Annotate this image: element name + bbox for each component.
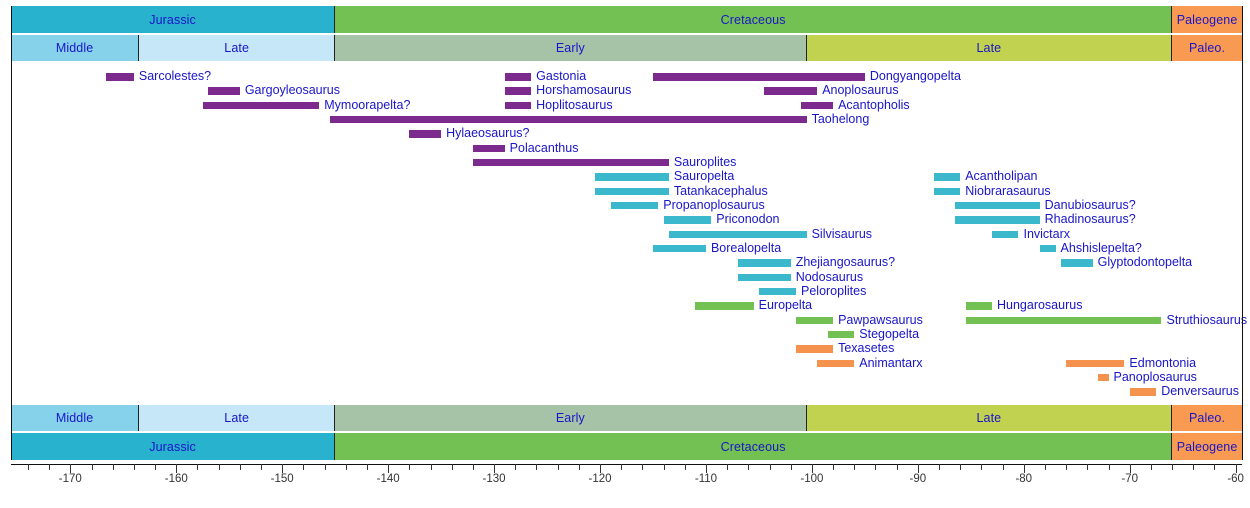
range-bar (955, 202, 1040, 210)
taxon-label: Struthiosaurus (1166, 313, 1247, 327)
x-axis-minor-tick (536, 464, 537, 470)
range-bar (595, 173, 669, 181)
x-axis-minor-tick (452, 464, 453, 470)
x-axis-minor-tick (1066, 464, 1067, 470)
x-axis-tick-label: -60 (1227, 473, 1244, 485)
x-axis-tick-label: -90 (910, 473, 927, 485)
taxon-range: Acantopholis (0, 99, 1250, 113)
x-axis-tick-label: -110 (695, 473, 717, 485)
range-bar (409, 130, 441, 138)
range-bar (992, 231, 1018, 239)
taxon-range: Dongyangopelta (0, 70, 1250, 84)
x-axis-minor-tick (1045, 464, 1046, 470)
x-axis-minor-tick (960, 464, 961, 470)
x-axis-minor-tick (261, 464, 262, 470)
taxon-range: Edmontonia (0, 357, 1250, 371)
x-axis-minor-tick (473, 464, 474, 470)
taxon-label: Anoplosaurus (822, 83, 898, 97)
x-axis-tick-label: -170 (59, 473, 82, 485)
x-axis-minor-tick (113, 464, 114, 470)
x-axis-minor-tick (325, 464, 326, 470)
range-bar (966, 317, 1162, 325)
taxon-label: Texasetes (838, 341, 894, 355)
x-axis-tick-label: -100 (800, 473, 823, 485)
taxon-label: Hungarosaurus (997, 298, 1082, 312)
x-axis-minor-tick (1003, 464, 1004, 470)
x-axis-tick-label: -80 (1015, 473, 1032, 485)
x-axis-minor-tick (791, 464, 792, 470)
taxon-label: Sauropelta (674, 169, 734, 183)
taxon-range: Struthiosaurus (0, 314, 1250, 328)
x-axis-major-tick (918, 464, 919, 473)
x-axis-minor-tick (240, 464, 241, 470)
taxon-label: Peloroplites (801, 284, 866, 298)
period-band-jurassic: Jurassic (11, 433, 335, 460)
range-bar (1040, 245, 1056, 253)
x-axis-major-tick (494, 464, 495, 473)
x-axis-tick-label: -140 (377, 473, 400, 485)
epoch-band-label: Middle (56, 411, 93, 425)
epoch-band-label: Late (224, 411, 249, 425)
taxon-label: Hylaeosaurus? (446, 126, 529, 140)
x-axis-minor-tick (685, 464, 686, 470)
stratigraphic-range-chart: JurassicCretaceousPaleogene MiddleLateEa… (0, 0, 1250, 508)
range-bar (473, 145, 505, 153)
x-axis-minor-tick (49, 464, 50, 470)
taxon-label: Denversaurus (1161, 384, 1239, 398)
taxa-range-plot: Sarcolestes?GastoniaDongyangopeltaGargoy… (0, 0, 1250, 508)
x-axis-minor-tick (1151, 464, 1152, 470)
x-axis-minor-tick (748, 464, 749, 470)
x-axis-major-tick (706, 464, 707, 473)
taxon-range: Tatankacephalus (0, 185, 1250, 199)
taxon-range: Texasetes (0, 342, 1250, 356)
x-axis-minor-tick (770, 464, 771, 470)
x-axis-tick-label: -150 (271, 473, 294, 485)
x-axis-major-tick (282, 464, 283, 473)
x-axis-minor-tick (854, 464, 855, 470)
x-axis-minor-tick (621, 464, 622, 470)
x-axis-major-tick (1130, 464, 1131, 473)
taxon-label: Edmontonia (1129, 356, 1196, 370)
range-bar (1061, 259, 1093, 267)
taxon-range: Rhadinosaurus? (0, 213, 1250, 227)
range-bar (759, 288, 796, 296)
x-axis-minor-tick (92, 464, 93, 470)
x-axis-tick-label: -120 (588, 473, 611, 485)
range-bar (330, 116, 807, 124)
taxon-range: Hylaeosaurus? (0, 127, 1250, 141)
range-bar (738, 274, 791, 282)
epoch-band-late: Late (807, 405, 1172, 431)
x-axis-major-tick (1236, 464, 1237, 473)
taxon-range: Invictarx (0, 228, 1250, 242)
epoch-band-middle: Middle (11, 405, 139, 431)
range-bar (764, 87, 817, 95)
range-bar (1066, 360, 1124, 368)
x-axis-major-tick (812, 464, 813, 473)
taxon-label: Invictarx (1023, 227, 1070, 241)
taxon-range: Panoplosaurus (0, 371, 1250, 385)
x-axis-minor-tick (1193, 464, 1194, 470)
x-axis-minor-tick (431, 464, 432, 470)
x-axis-minor-tick (833, 464, 834, 470)
x-axis-minor-tick (409, 464, 410, 470)
period-band-label: Jurassic (149, 440, 196, 454)
period-band-cretaceous: Cretaceous (335, 433, 1172, 460)
taxon-label: Nodosaurus (796, 270, 863, 284)
x-axis-minor-tick (939, 464, 940, 470)
taxon-label: Taohelong (812, 112, 870, 126)
taxon-label: Tatankacephalus (674, 184, 768, 198)
taxon-label: Polacanthus (510, 141, 579, 155)
taxon-range: Taohelong (0, 113, 1250, 127)
taxon-label: Sauroplites (674, 155, 737, 169)
period-band-paleogene: Paleogene (1172, 433, 1242, 460)
taxon-label: Ahshislepelta? (1061, 241, 1142, 255)
period-band-row-bottom: JurassicCretaceousPaleogene (11, 433, 1242, 460)
epoch-band-late: Late (139, 405, 335, 431)
x-axis-minor-tick (664, 464, 665, 470)
taxon-label: Acantopholis (838, 98, 910, 112)
range-bar (1098, 374, 1109, 382)
x-axis-minor-tick (558, 464, 559, 470)
range-bar (955, 216, 1040, 224)
taxon-range: Stegopelta (0, 328, 1250, 342)
range-bar (796, 345, 833, 353)
epoch-band-row-bottom: MiddleLateEarlyLatePaleo. (11, 405, 1242, 431)
taxon-range: Danubiosaurus? (0, 199, 1250, 213)
x-axis-minor-tick (1214, 464, 1215, 470)
x-axis-minor-tick (897, 464, 898, 470)
x-axis-minor-tick (367, 464, 368, 470)
x-axis-minor-tick (28, 464, 29, 470)
x-axis-minor-tick (1087, 464, 1088, 470)
x-axis-minor-tick (219, 464, 220, 470)
x-axis-minor-tick (727, 464, 728, 470)
range-bar (1130, 388, 1156, 396)
x-axis-minor-tick (1172, 464, 1173, 470)
taxon-range: Anoplosaurus (0, 84, 1250, 98)
x-axis-major-tick (1024, 464, 1025, 473)
x-axis-minor-tick (1109, 464, 1110, 470)
x-axis-minor-tick (981, 464, 982, 470)
taxon-label: Glyptodontopelta (1098, 255, 1193, 269)
x-axis-minor-tick (346, 464, 347, 470)
taxon-range: Sauropelta (0, 170, 1250, 184)
range-bar (653, 73, 865, 81)
period-band-label: Cretaceous (721, 440, 786, 454)
taxon-range: Denversaurus (0, 385, 1250, 399)
taxon-label: Stegopelta (859, 327, 919, 341)
x-axis-minor-tick (303, 464, 304, 470)
chart-frame-right (1242, 6, 1243, 460)
epoch-band-label: Paleo. (1189, 411, 1225, 425)
epoch-band-early: Early (335, 405, 806, 431)
taxon-range: Sauroplites (0, 156, 1250, 170)
x-axis-tick-label: -160 (165, 473, 188, 485)
epoch-band-label: Late (976, 411, 1001, 425)
taxon-range: Hungarosaurus (0, 299, 1250, 313)
x-axis-minor-tick (642, 464, 643, 470)
epoch-band-paleo: Paleo. (1172, 405, 1242, 431)
epoch-band-label: Early (556, 411, 585, 425)
x-axis-minor-tick (197, 464, 198, 470)
chart-frame-left (11, 6, 12, 460)
taxon-range: Peloroplites (0, 285, 1250, 299)
taxon-range: Nodosaurus (0, 271, 1250, 285)
range-bar (473, 159, 669, 167)
taxon-label: Danubiosaurus? (1045, 198, 1136, 212)
taxon-range: Ahshislepelta? (0, 242, 1250, 256)
x-axis-major-tick (600, 464, 601, 473)
x-axis-minor-tick (515, 464, 516, 470)
taxon-label: Panoplosaurus (1114, 370, 1197, 384)
x-axis-minor-tick (134, 464, 135, 470)
range-bar (966, 302, 992, 310)
range-bar (828, 331, 854, 339)
taxon-range: Polacanthus (0, 142, 1250, 156)
x-axis-tick-label: -130 (483, 473, 506, 485)
x-axis-line (11, 464, 1242, 465)
x-axis-major-tick (388, 464, 389, 473)
x-axis-major-tick (70, 464, 71, 473)
range-bar (801, 102, 833, 110)
period-band-label: Paleogene (1177, 440, 1238, 454)
x-axis-tick-label: -70 (1121, 473, 1138, 485)
range-bar (595, 188, 669, 196)
taxon-label: Rhadinosaurus? (1045, 212, 1136, 226)
x-axis-minor-tick (875, 464, 876, 470)
taxon-label: Dongyangopelta (870, 69, 961, 83)
x-axis-minor-tick (579, 464, 580, 470)
x-axis-minor-tick (155, 464, 156, 470)
taxon-range: Glyptodontopelta (0, 256, 1250, 270)
x-axis-major-tick (176, 464, 177, 473)
